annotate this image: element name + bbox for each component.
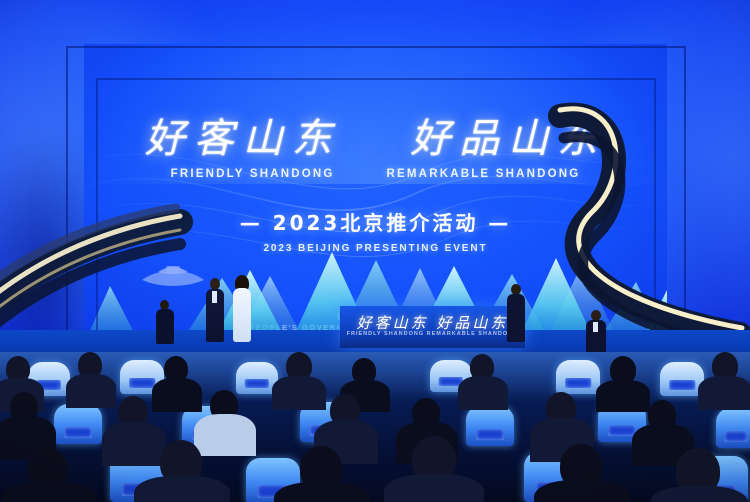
- audience-shoulders: [596, 380, 650, 412]
- standing-guest-right-body: [507, 294, 525, 342]
- chair: [466, 406, 514, 446]
- audience-shoulders: [102, 422, 166, 466]
- host-female: [231, 276, 253, 342]
- chair: [54, 404, 102, 444]
- host-female-dress: [233, 288, 251, 342]
- headline-en-right: REMARKABLE SHANDONG: [387, 168, 581, 180]
- podium-text-chinese: 好客山东 好品山东: [340, 312, 525, 333]
- audience-shoulders: [458, 376, 508, 410]
- guest-near-podium: [585, 310, 607, 358]
- podium-text-english: FRIENDLY SHANDONG REMARKABLE SHANDONG: [340, 331, 525, 337]
- host-male: [204, 278, 226, 342]
- headline-chinese: 好客山东 好品山东: [84, 106, 667, 164]
- audience-shoulders: [698, 376, 750, 410]
- guest-left-of-stage: [156, 300, 174, 344]
- standing-guest-right: [506, 284, 526, 342]
- headline-en-left: FRIENDLY SHANDONG: [171, 168, 335, 180]
- headline-cn-right: 好品山东: [410, 116, 606, 162]
- audience-shoulders: [274, 482, 370, 502]
- audience-shoulders: [194, 414, 256, 456]
- chair: [556, 360, 600, 394]
- audience-shoulders: [384, 474, 484, 502]
- headline-english: FRIENDLY SHANDONG REMARKABLE SHANDONG: [84, 168, 667, 180]
- audience-shoulders: [2, 482, 96, 502]
- audience-shoulders: [534, 480, 630, 502]
- audience-area: [0, 352, 750, 502]
- host-male-shirt: [212, 291, 217, 303]
- headline-cn-left: 好客山东: [145, 116, 341, 162]
- chair: [716, 408, 750, 448]
- audience-shoulders: [134, 476, 230, 502]
- event-stage-photo: 好客山东 好品山东 FRIENDLY SHANDONG REMARKABLE S…: [0, 0, 750, 502]
- guest-near-podium-shirt: [593, 322, 598, 332]
- audience-shoulders: [66, 374, 116, 408]
- audience-shoulders: [272, 376, 326, 410]
- guest-left-body: [156, 309, 174, 344]
- main-led-screen: 好客山东 好品山东 FRIENDLY SHANDONG REMARKABLE S…: [84, 44, 667, 344]
- pagoda-cloud-motif: [136, 258, 210, 292]
- audience-shoulders: [152, 378, 202, 412]
- podium-banner: 好客山东 好品山东 FRIENDLY SHANDONG REMARKABLE S…: [340, 306, 525, 348]
